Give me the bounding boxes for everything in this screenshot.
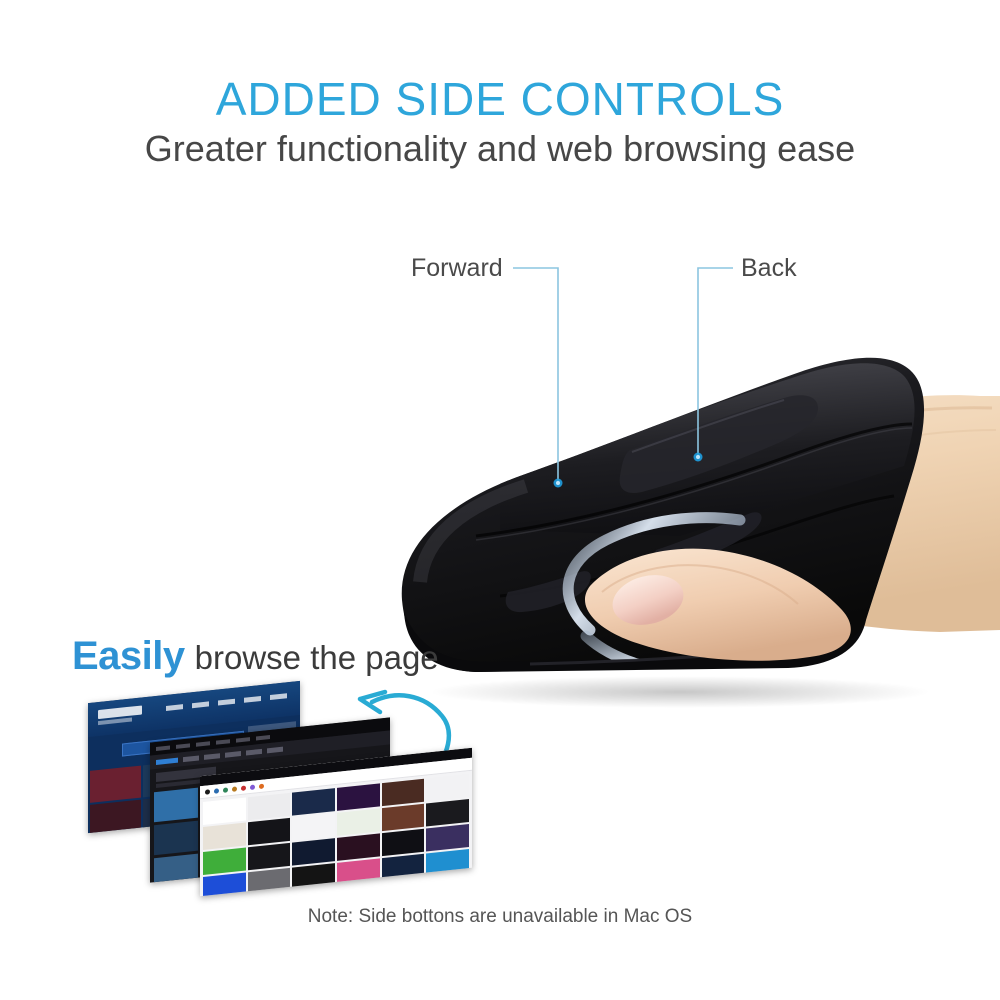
toolbar-dot[interactable] <box>232 786 237 792</box>
toolbar-dot[interactable] <box>259 783 264 789</box>
thumbnail-tile[interactable] <box>426 824 469 851</box>
thumbnail-tile[interactable] <box>203 822 246 849</box>
thumbnail-tile[interactable] <box>337 783 380 810</box>
toolbar-dot[interactable] <box>214 788 219 794</box>
thumbnail-tile[interactable] <box>154 788 198 823</box>
thumbnail-tile[interactable] <box>382 779 425 806</box>
thumbnail-tile[interactable] <box>292 813 335 840</box>
site-logo <box>98 705 142 719</box>
thumbnail-tile[interactable] <box>248 793 291 820</box>
thumbnail-tile[interactable] <box>382 829 425 856</box>
thumbnail-tile[interactable] <box>382 854 425 881</box>
thumbnail-tile[interactable] <box>426 849 469 876</box>
thumbnail-tile[interactable] <box>337 858 380 885</box>
thumbnail-tile[interactable] <box>292 788 335 815</box>
toolbar-dot[interactable] <box>205 789 210 795</box>
promo-emphasis: Easily <box>72 634 185 678</box>
thumbnail-tile[interactable] <box>203 847 246 874</box>
site-tagline <box>98 718 132 726</box>
thumbnail-tile[interactable] <box>248 818 291 845</box>
thumbnail-tile[interactable] <box>154 854 198 883</box>
page-subhead: Greater functionality and web browsing e… <box>0 128 1000 170</box>
toolbar-dot[interactable] <box>250 784 255 790</box>
promo-tagline: Easilybrowse the page <box>72 634 439 679</box>
thumbnail-tile[interactable] <box>292 838 335 865</box>
thumbnail-tile[interactable] <box>203 872 246 896</box>
callout-label-forward: Forward <box>411 254 503 283</box>
thumbnail-tile[interactable] <box>154 821 198 856</box>
thumbnail-tile[interactable] <box>426 799 469 826</box>
thumbnail-tile[interactable] <box>426 774 469 801</box>
thumbnail-tile[interactable] <box>248 868 291 895</box>
thumbnail-tile[interactable] <box>337 833 380 860</box>
page-headline: ADDED SIDE CONTROLS <box>0 72 1000 126</box>
product-illustration <box>380 300 1000 720</box>
thumbnail-tile[interactable] <box>292 863 335 890</box>
thumbnail-tile[interactable] <box>90 800 141 834</box>
product-marketing-image: ADDED SIDE CONTROLS Greater functionalit… <box>0 0 1000 1000</box>
thumbnail-tile[interactable] <box>90 766 141 803</box>
thumbnail-tile[interactable] <box>382 804 425 831</box>
footnote: Note: Side bottons are unavailable in Ma… <box>0 906 1000 928</box>
thumbnail-tile[interactable] <box>248 843 291 870</box>
portal-nav[interactable] <box>166 693 287 711</box>
browser-window-stack <box>88 692 448 882</box>
toolbar-dot[interactable] <box>223 787 228 793</box>
thumbnail-tile[interactable] <box>337 808 380 835</box>
thumbnail-tile[interactable] <box>203 797 246 824</box>
toolbar-dot[interactable] <box>241 785 246 791</box>
callout-label-back: Back <box>741 254 797 283</box>
promo-rest: browse the page <box>195 639 439 676</box>
